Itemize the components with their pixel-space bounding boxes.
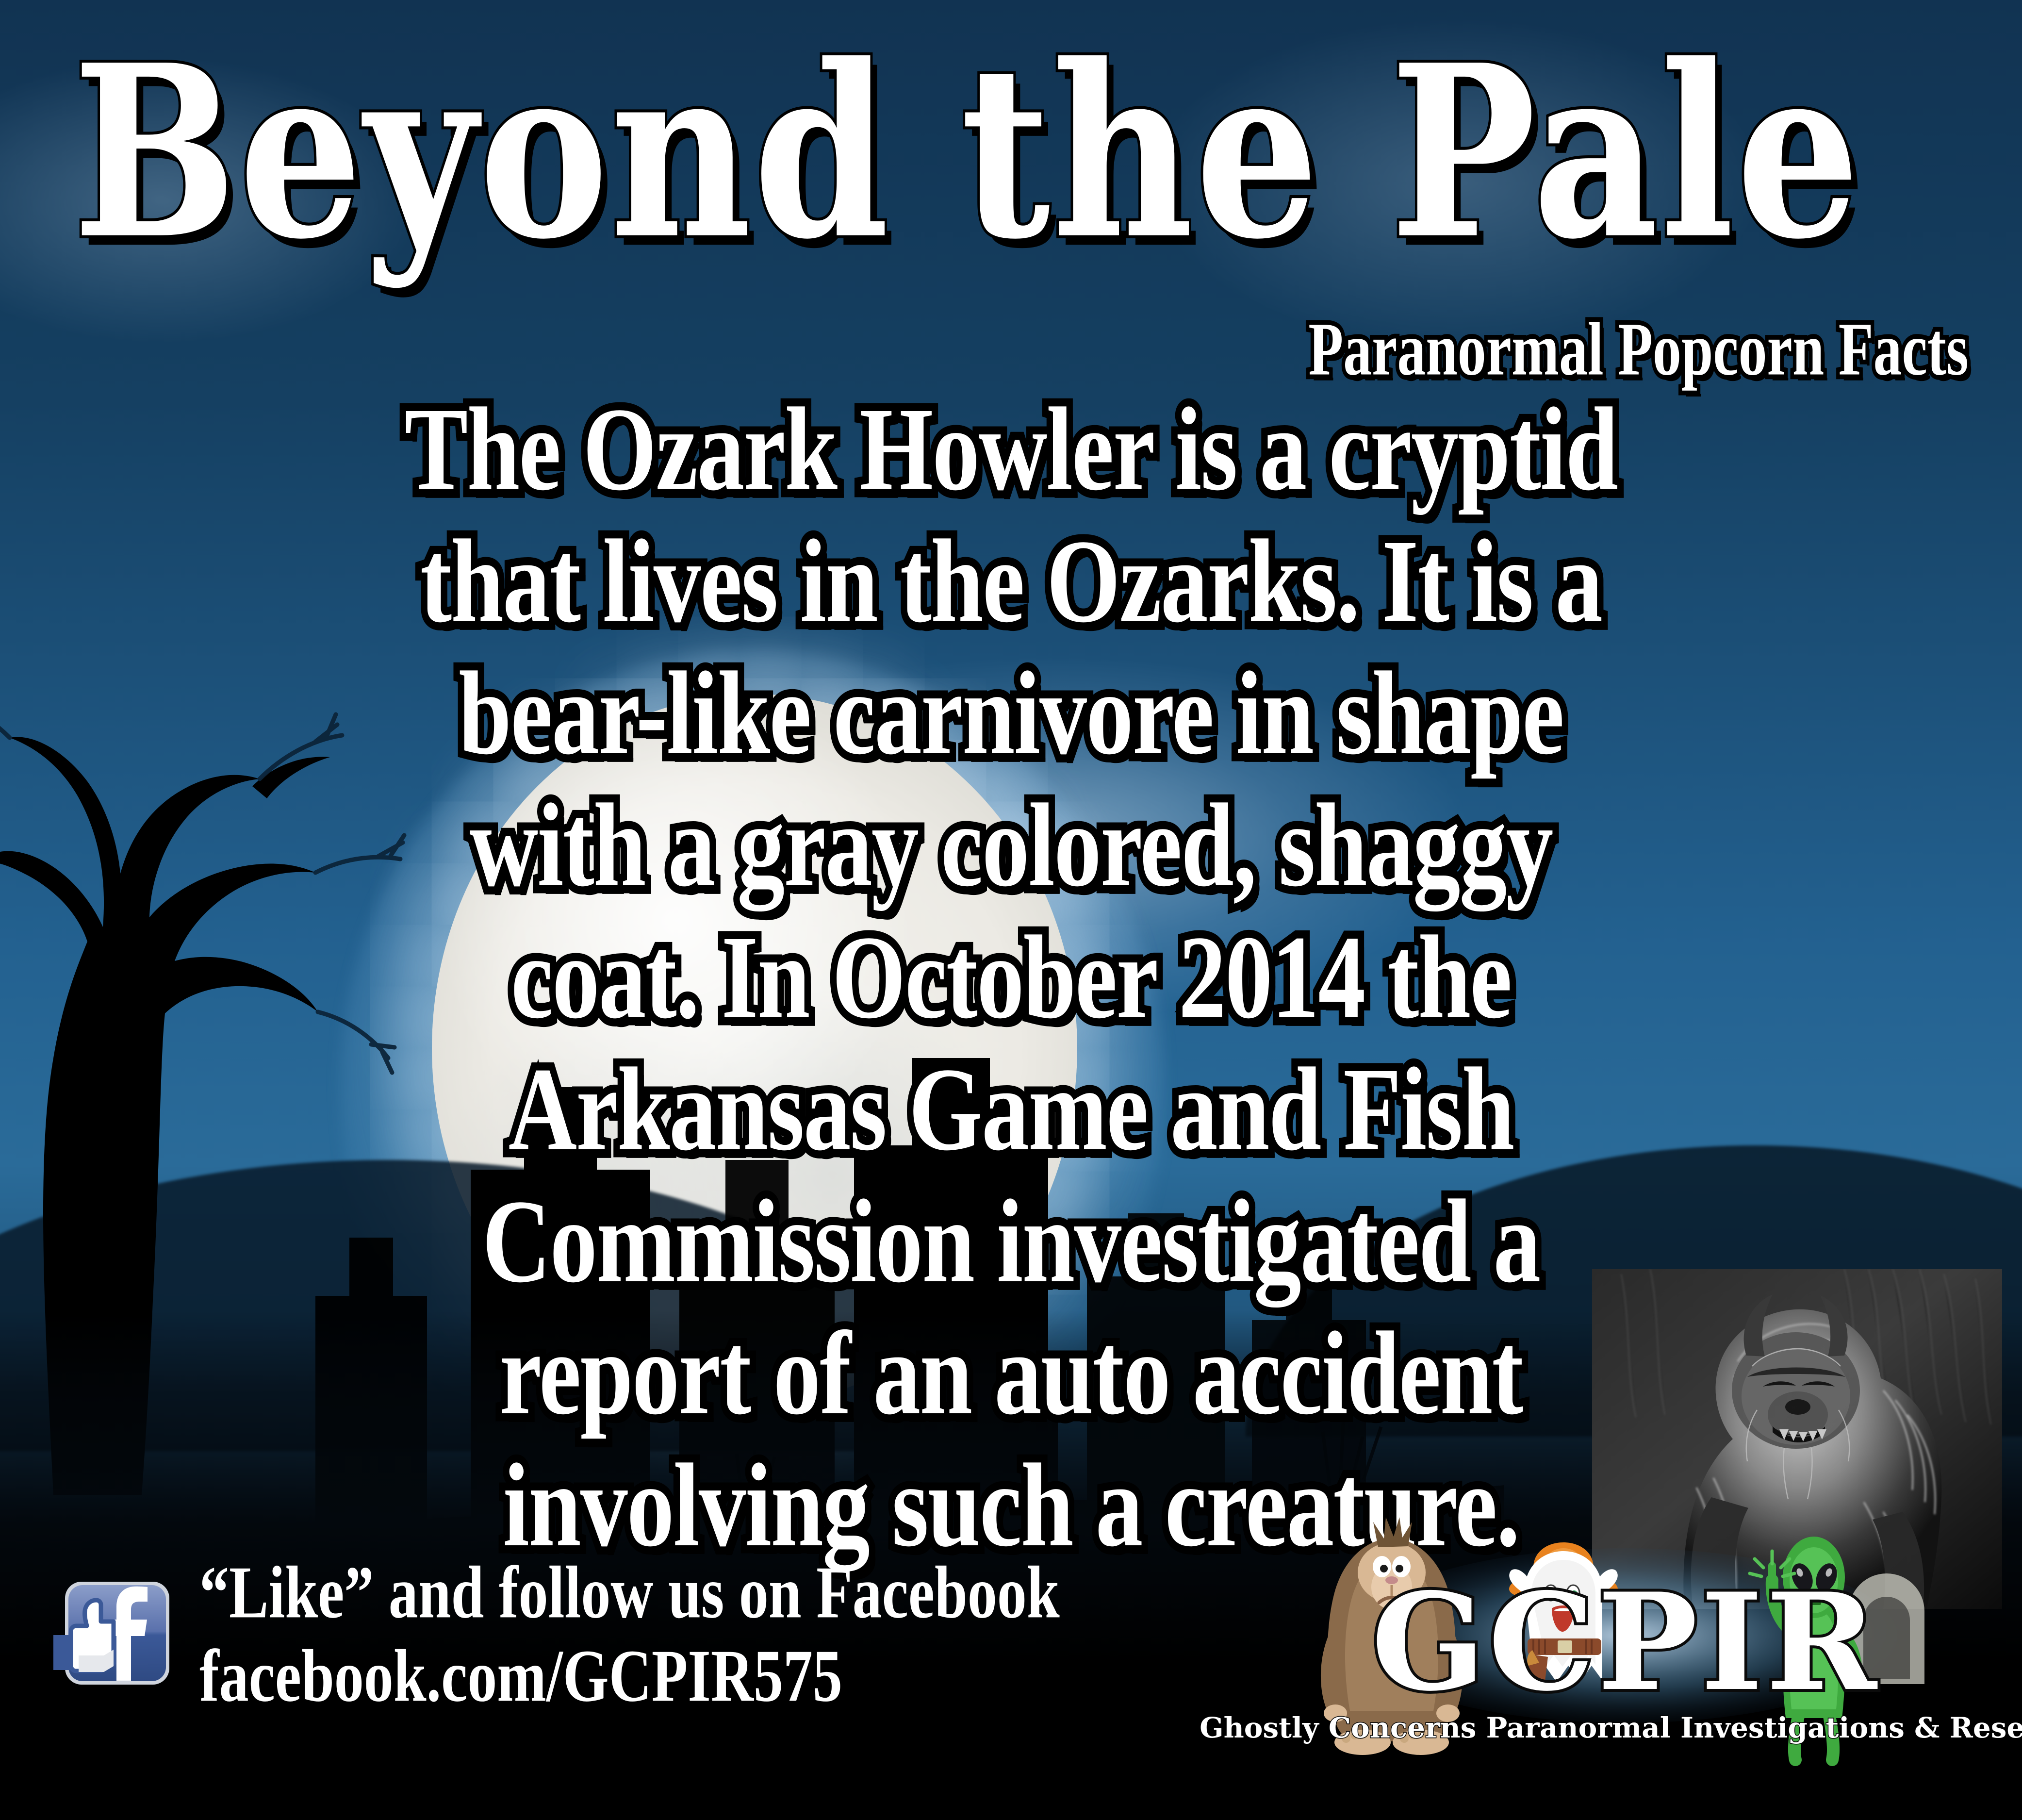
poster-canvas: Beyond the Pale Paranormal Popcorn Facts… [0, 0, 2022, 1820]
logo-tagline: Ghostly Concerns Paranormal Investigatio… [1200, 1711, 2022, 1744]
facebook-like-icon[interactable] [53, 1578, 177, 1692]
page-title: Beyond the Pale [73, 34, 1862, 271]
gcpir-logo: GCPIR Ghostly Concerns Paranormal Invest… [1305, 1490, 1999, 1762]
facebook-cta[interactable]: “Like” and follow us on Facebook faceboo… [53, 1551, 1060, 1718]
facebook-url[interactable]: facebook.com/GCPIR575 [199, 1624, 1060, 1729]
logo-acronym: GCPIR [1371, 1564, 1880, 1721]
